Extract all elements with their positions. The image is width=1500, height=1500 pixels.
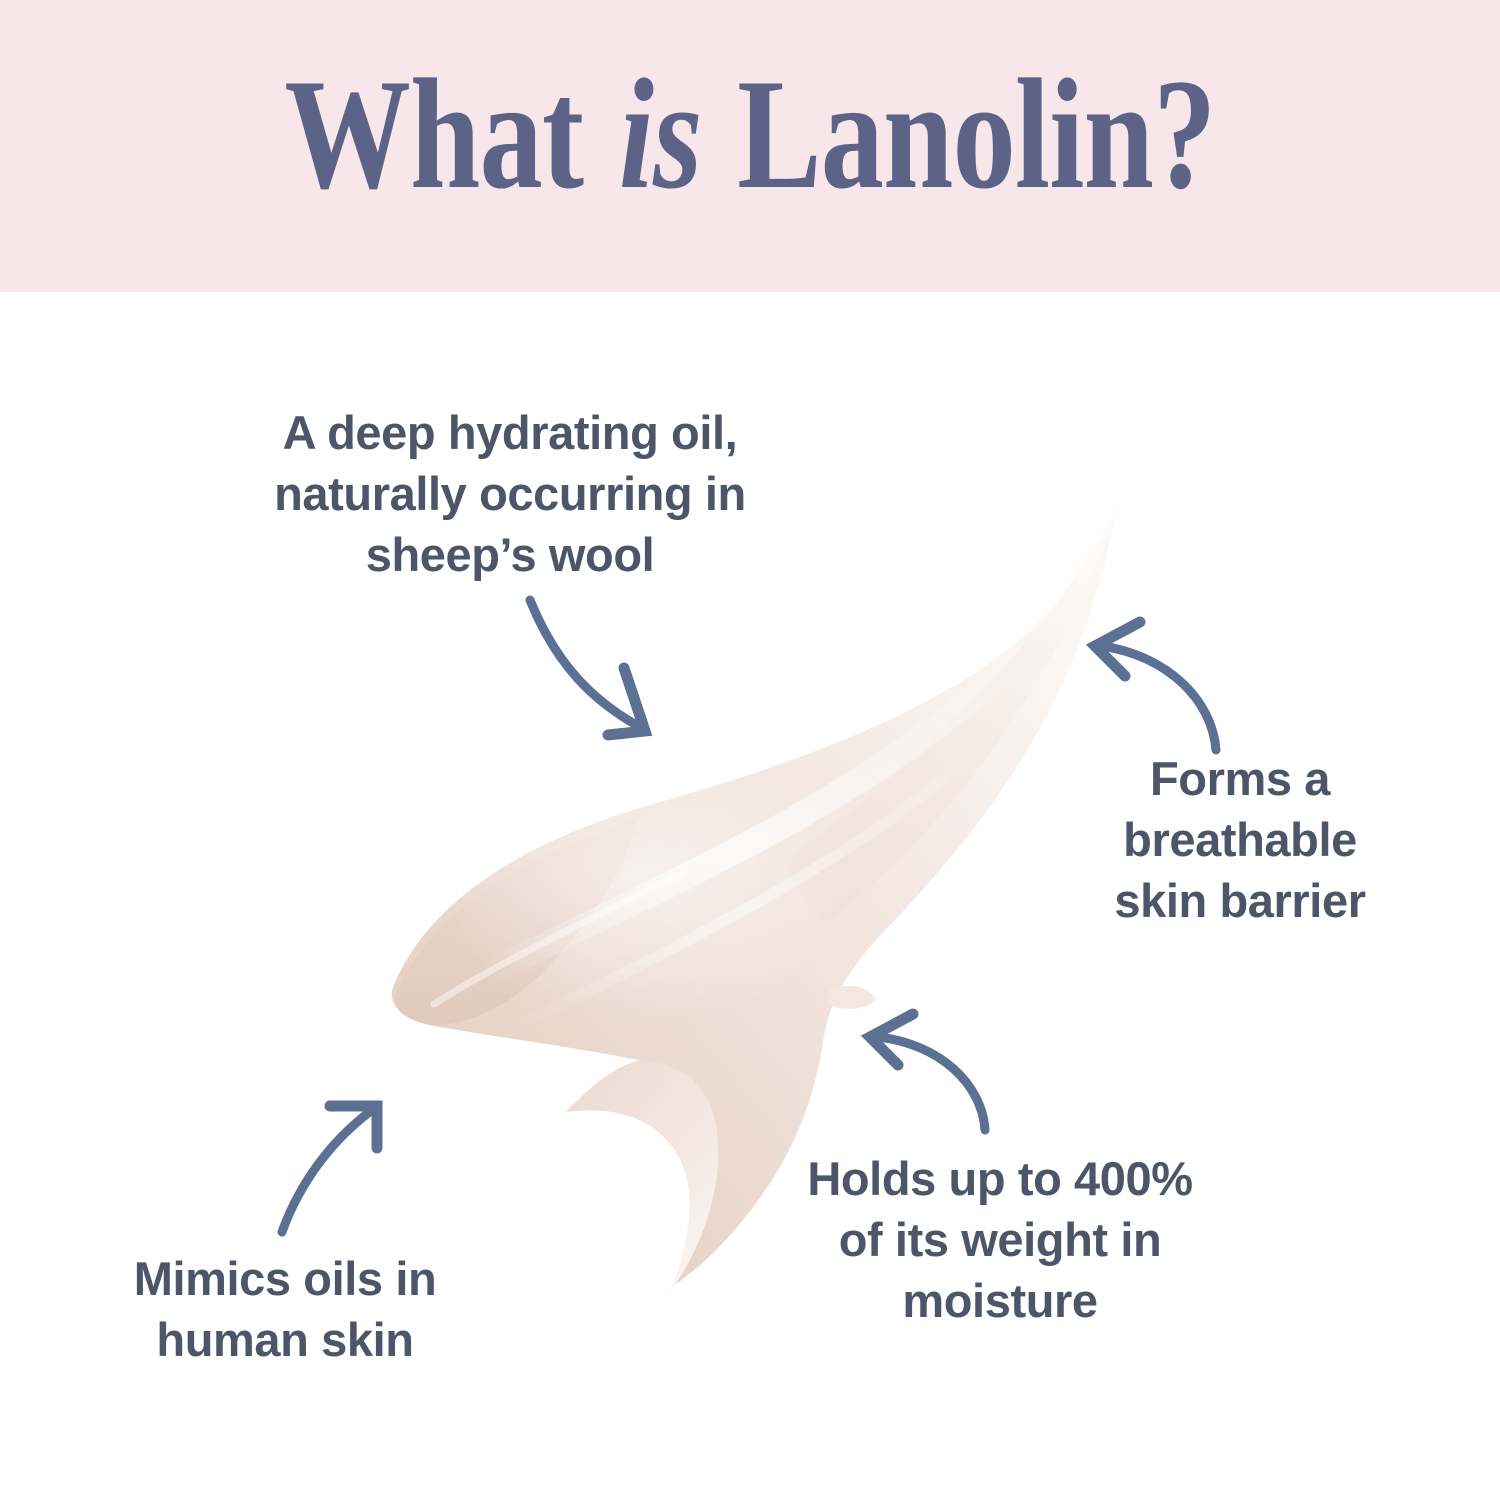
page-title: What is Lanolin? [150, 56, 1350, 214]
infographic-canvas: What is Lanolin? [0, 0, 1500, 1500]
callout-hydrating: A deep hydrating oil, naturally occurrin… [180, 402, 840, 585]
callout-hydrating-line-1: A deep hydrating oil, [180, 402, 840, 463]
page-title-suffix: Lanolin? [706, 47, 1215, 222]
callout-mimics-line-2: human skin [60, 1309, 510, 1370]
callout-barrier: Forms a breathable skin barrier [1030, 748, 1450, 931]
page-title-prefix: What [284, 47, 614, 222]
page-title-emphasis: is [614, 47, 706, 222]
callout-holds-line-3: moisture [710, 1270, 1290, 1331]
callout-mimics-line-1: Mimics oils in [60, 1248, 510, 1309]
callout-hydrating-line-3: sheep’s wool [180, 524, 840, 585]
callout-holds-line-1: Holds up to 400% [710, 1148, 1290, 1209]
callout-hydrating-line-2: naturally occurring in [180, 463, 840, 524]
callout-holds-line-2: of its weight in [710, 1209, 1290, 1270]
callout-holds: Holds up to 400% of its weight in moistu… [710, 1148, 1290, 1331]
callout-barrier-line-1: Forms a [1030, 748, 1450, 809]
header-band: What is Lanolin? [0, 0, 1500, 292]
callout-mimics: Mimics oils in human skin [60, 1248, 510, 1370]
callout-barrier-line-2: breathable [1030, 809, 1450, 870]
callout-barrier-line-3: skin barrier [1030, 870, 1450, 931]
swatch-notch [828, 986, 876, 1009]
